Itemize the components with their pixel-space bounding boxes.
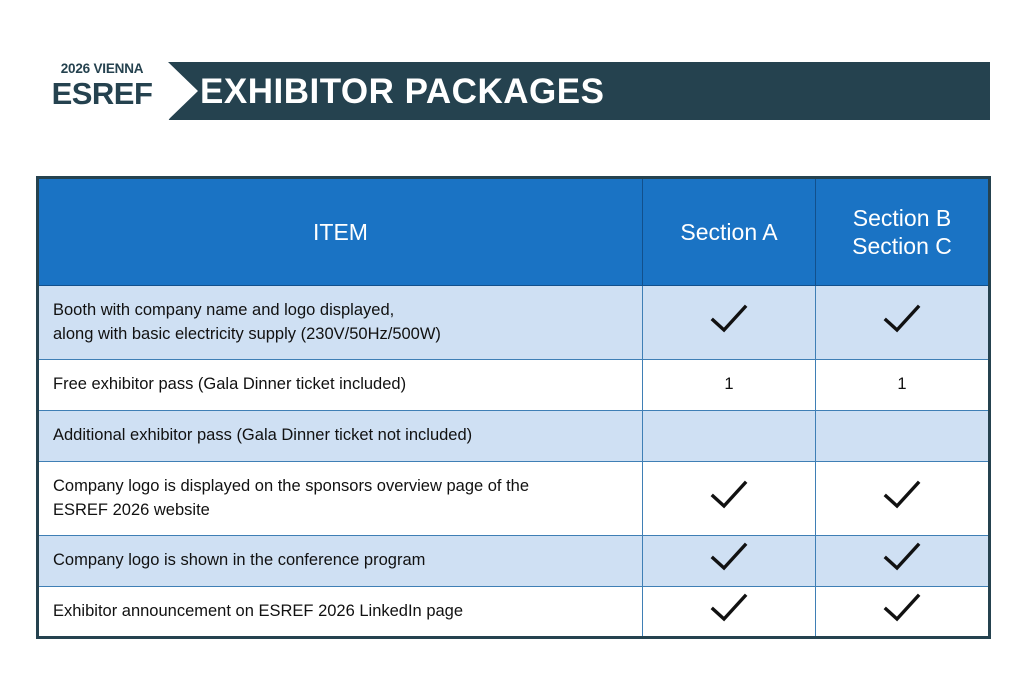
table-row: Company logo is displayed on the sponsor… — [38, 462, 990, 536]
row-label-line1: Additional exhibitor pass (Gala Dinner t… — [53, 424, 642, 447]
cell-section-a — [643, 536, 816, 587]
row-label: Exhibitor announcement on ESREF 2026 Lin… — [38, 587, 643, 638]
checkmark-icon — [882, 478, 922, 512]
cell-section-bc — [816, 411, 990, 462]
cell-section-a — [643, 462, 816, 536]
column-header-section-a: Section A — [643, 178, 816, 286]
cell-section-bc: 1 — [816, 360, 990, 411]
checkmark-icon — [882, 302, 922, 336]
checkmark-icon — [882, 540, 922, 574]
row-label: Company logo is displayed on the sponsor… — [38, 462, 643, 536]
table-row: Exhibitor announcement on ESREF 2026 Lin… — [38, 587, 990, 638]
checkmark-icon — [882, 591, 922, 625]
column-header-section-b-line: Section B — [816, 204, 988, 232]
exhibitor-packages-table-wrap: ITEM Section A Section B Section C Booth… — [36, 176, 988, 639]
checkmark-icon — [709, 478, 749, 512]
table-row: Additional exhibitor pass (Gala Dinner t… — [38, 411, 990, 462]
logo-year-label: 2026 VIENNA — [28, 62, 176, 77]
cell-value: 1 — [724, 375, 733, 393]
cell-section-bc — [816, 536, 990, 587]
cell-value: 1 — [897, 375, 906, 393]
row-label-line1: Exhibitor announcement on ESREF 2026 Lin… — [53, 600, 642, 623]
title-banner: EXHIBITOR PACKAGES — [140, 62, 990, 120]
row-label: Additional exhibitor pass (Gala Dinner t… — [38, 411, 643, 462]
row-label: Booth with company name and logo display… — [38, 286, 643, 360]
column-header-section-bc: Section B Section C — [816, 178, 990, 286]
logo-name-label: ESREF — [28, 78, 176, 111]
row-label-line1: Booth with company name and logo display… — [53, 299, 642, 322]
checkmark-icon — [709, 591, 749, 625]
table-body: Booth with company name and logo display… — [38, 286, 990, 638]
page-header: EXHIBITOR PACKAGES 2026 VIENNA ESREF — [0, 0, 1024, 180]
cell-section-a — [643, 411, 816, 462]
row-label-line1: Company logo is shown in the conference … — [53, 549, 642, 572]
row-label: Company logo is shown in the conference … — [38, 536, 643, 587]
cell-section-bc — [816, 587, 990, 638]
cell-section-a — [643, 286, 816, 360]
row-label-line1: Free exhibitor pass (Gala Dinner ticket … — [53, 373, 642, 396]
page-title: EXHIBITOR PACKAGES — [200, 74, 604, 109]
column-header-item: ITEM — [38, 178, 643, 286]
row-label: Free exhibitor pass (Gala Dinner ticket … — [38, 360, 643, 411]
table-header-row: ITEM Section A Section B Section C — [38, 178, 990, 286]
logo-text-block: 2026 VIENNA ESREF — [28, 62, 176, 110]
table-header: ITEM Section A Section B Section C — [38, 178, 990, 286]
cell-section-bc — [816, 286, 990, 360]
checkmark-icon — [709, 302, 749, 336]
table-row: Company logo is shown in the conference … — [38, 536, 990, 587]
table-row: Free exhibitor pass (Gala Dinner ticket … — [38, 360, 990, 411]
cell-section-bc — [816, 462, 990, 536]
column-header-section-c-line: Section C — [816, 232, 988, 260]
slide-page: EXHIBITOR PACKAGES 2026 VIENNA ESREF ITE… — [0, 0, 1024, 694]
row-label-line1: Company logo is displayed on the sponsor… — [53, 475, 642, 498]
cell-section-a — [643, 587, 816, 638]
row-label-line2: along with basic electricity supply (230… — [53, 323, 642, 346]
cell-section-a: 1 — [643, 360, 816, 411]
esref-logo: 2026 VIENNA ESREF — [28, 32, 176, 180]
row-label-line2: ESREF 2026 website — [53, 499, 642, 522]
exhibitor-packages-table: ITEM Section A Section B Section C Booth… — [36, 176, 991, 639]
checkmark-icon — [709, 540, 749, 574]
table-row: Booth with company name and logo display… — [38, 286, 990, 360]
